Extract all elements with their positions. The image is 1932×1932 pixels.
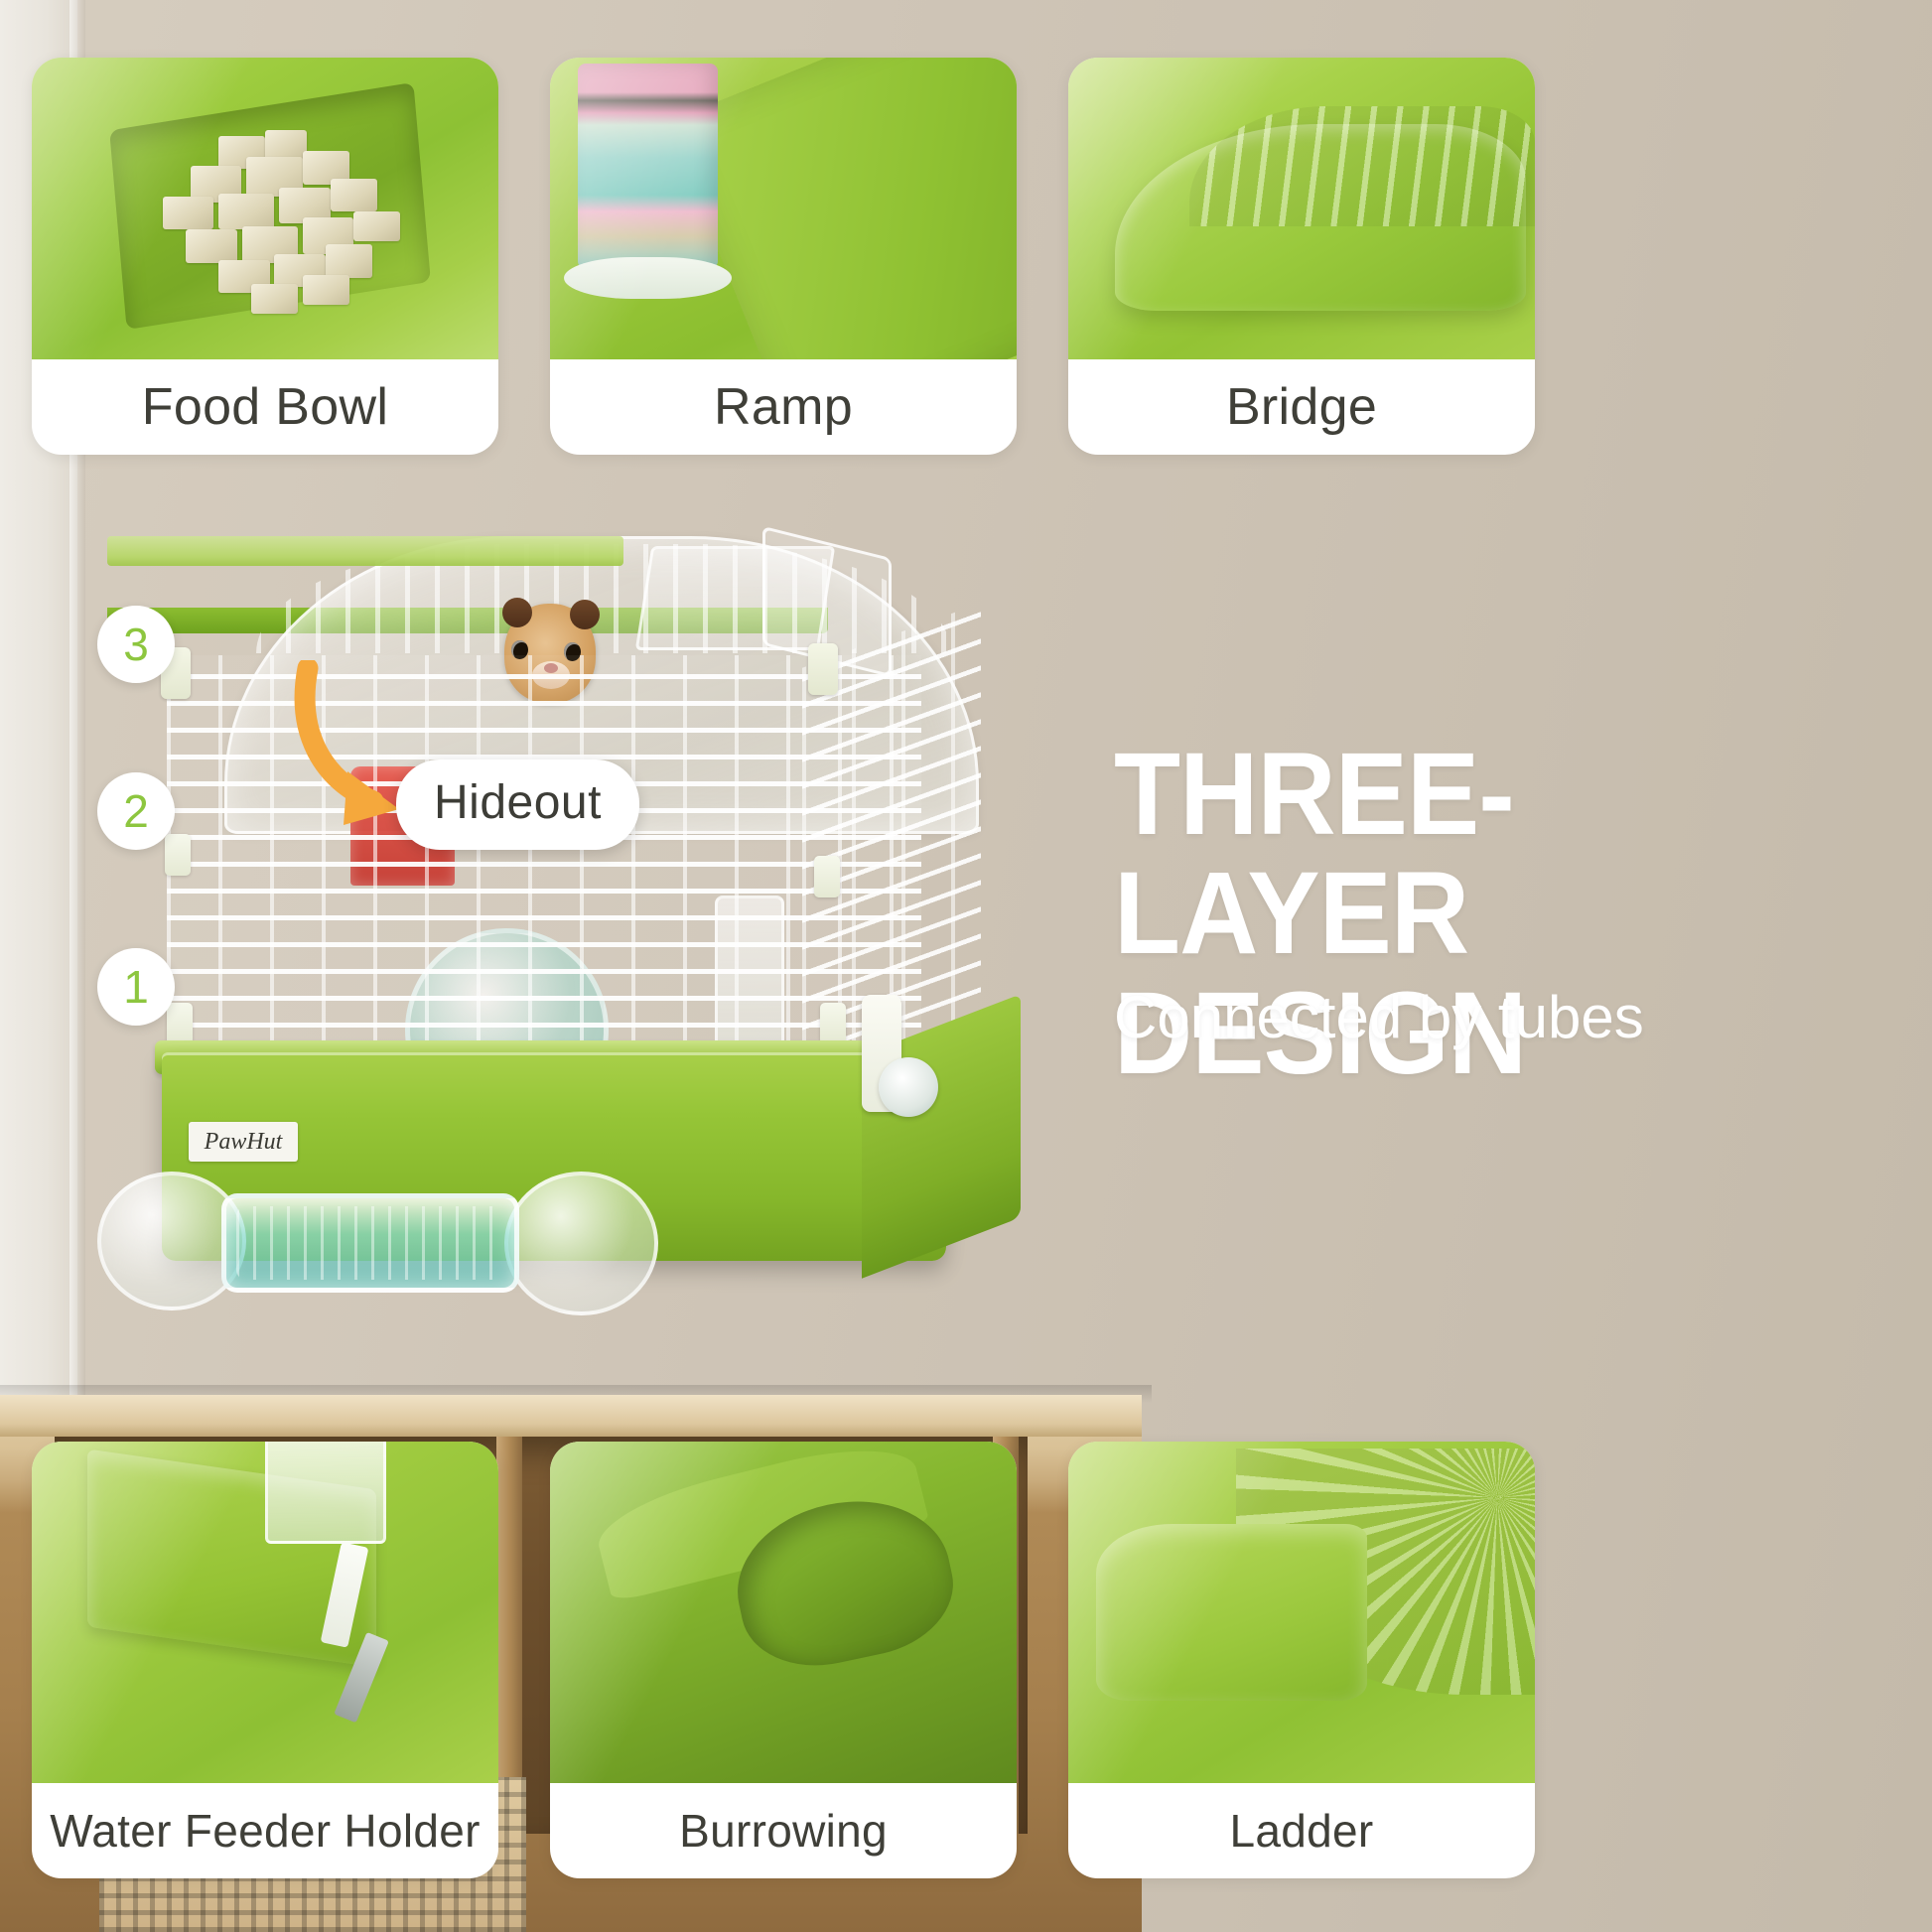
connecting-tube [221, 1193, 519, 1293]
feature-caption-ladder: Ladder [1068, 1783, 1535, 1878]
feature-photo-ramp [550, 58, 1017, 359]
feature-caption-food-bowl: Food Bowl [32, 359, 498, 455]
desk-divider-left [496, 1437, 522, 1834]
cage-level-3-platform [107, 536, 623, 566]
hamster-cage: PawHut [107, 536, 1110, 1400]
feature-card-bridge: Bridge [1068, 58, 1535, 455]
feature-caption-water-feeder-holder: Water Feeder Holder [32, 1783, 498, 1878]
feature-photo-water-feeder-holder [32, 1442, 498, 1783]
tube-bulb-right [504, 1172, 658, 1315]
desk-top-surface [0, 1395, 1142, 1437]
feature-card-water-feeder-holder: Water Feeder Holder [32, 1442, 498, 1878]
feature-card-burrowing: Burrowing [550, 1442, 1017, 1878]
headline-line-1: THREE-LAYER [1114, 735, 1862, 974]
feature-photo-food-bowl [32, 58, 498, 359]
side-clip-right-lower [820, 1003, 846, 1044]
feature-caption-ramp: Ramp [550, 359, 1017, 455]
layer-badge-1: 1 [97, 948, 175, 1026]
feature-photo-bridge [1068, 58, 1535, 359]
feature-caption-bridge: Bridge [1068, 359, 1535, 455]
hideout-callout-label: Hideout [396, 759, 639, 850]
brand-tag: PawHut [189, 1122, 298, 1162]
corner-clip-top-right [808, 643, 838, 695]
feature-photo-ladder [1068, 1442, 1535, 1783]
feature-card-food-bowl: Food Bowl [32, 58, 498, 455]
cage-door-knob [879, 1057, 938, 1117]
layer-badge-3: 3 [97, 606, 175, 683]
layer-badge-2: 2 [97, 772, 175, 850]
side-clip-left-lower [167, 1003, 193, 1044]
side-clip-left-upper [165, 834, 191, 876]
side-clip-right-upper [814, 856, 840, 897]
headline-subtitle: Connected by tubes [1114, 983, 1644, 1051]
feature-card-ladder: Ladder [1068, 1442, 1535, 1878]
feature-caption-burrowing: Burrowing [550, 1783, 1017, 1878]
cage-level-2-platform [105, 566, 843, 607]
infographic-canvas: PawHut 3 2 1 Hideout THREE-LAYER DESIGN … [0, 0, 1932, 1932]
feature-photo-burrowing [550, 1442, 1017, 1783]
feature-card-ramp: Ramp [550, 58, 1017, 455]
